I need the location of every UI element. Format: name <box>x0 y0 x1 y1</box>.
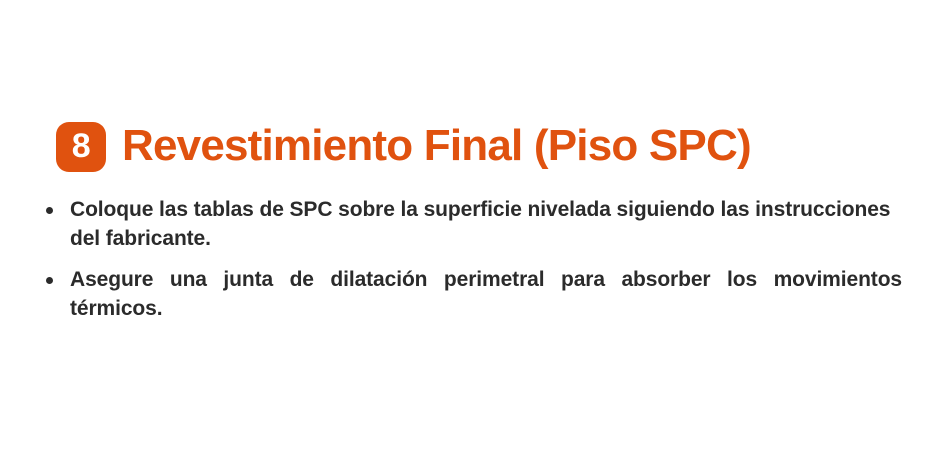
step-number-text: 8 <box>72 129 90 163</box>
list-item: Coloque las tablas de SPC sobre la super… <box>40 196 902 254</box>
list-item: Asegure una junta de dilatación perimetr… <box>40 266 902 324</box>
bullet-dot-icon <box>46 277 53 284</box>
step-number-badge: 8 <box>56 122 106 172</box>
bullet-dot-icon <box>46 207 53 214</box>
instruction-bullet-list: Coloque las tablas de SPC sobre la super… <box>40 196 902 324</box>
page-title: Revestimiento Final (Piso SPC) <box>122 124 751 169</box>
step-heading: 8 Revestimiento Final (Piso SPC) <box>56 95 751 199</box>
list-item-text: Coloque las tablas de SPC sobre la super… <box>70 198 890 250</box>
instruction-step-card: 8 Revestimiento Final (Piso SPC) Coloque… <box>0 0 940 449</box>
list-item-text: Asegure una junta de dilatación perimetr… <box>70 266 902 324</box>
